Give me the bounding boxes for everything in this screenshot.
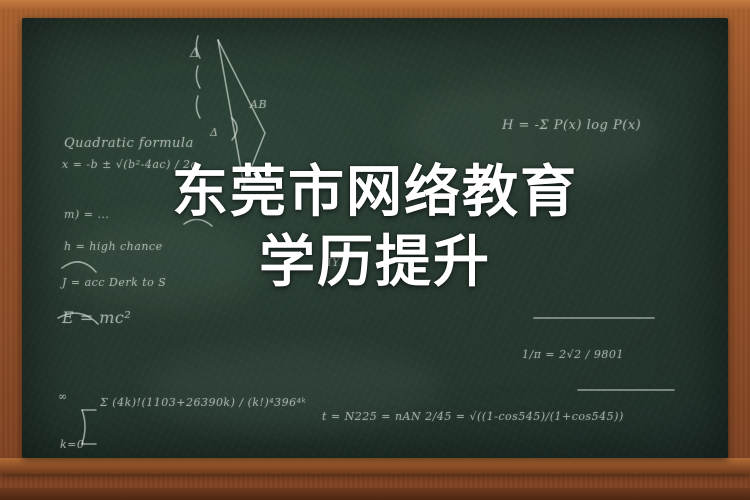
chalk-smudge (142, 348, 442, 428)
chalkboard-banner: Δ AB Δ H = -Σ P(x) log P(x) Quadratic fo… (0, 0, 750, 500)
headline: 东莞市网络教育 学历提升 (0, 158, 750, 298)
frame-bottom-shadow (0, 488, 750, 500)
chalk-ledge (0, 458, 750, 474)
headline-line-2: 学历提升 (0, 228, 750, 298)
headline-line-1: 东莞市网络教育 (172, 160, 578, 225)
frame-top-highlight (0, 0, 750, 9)
